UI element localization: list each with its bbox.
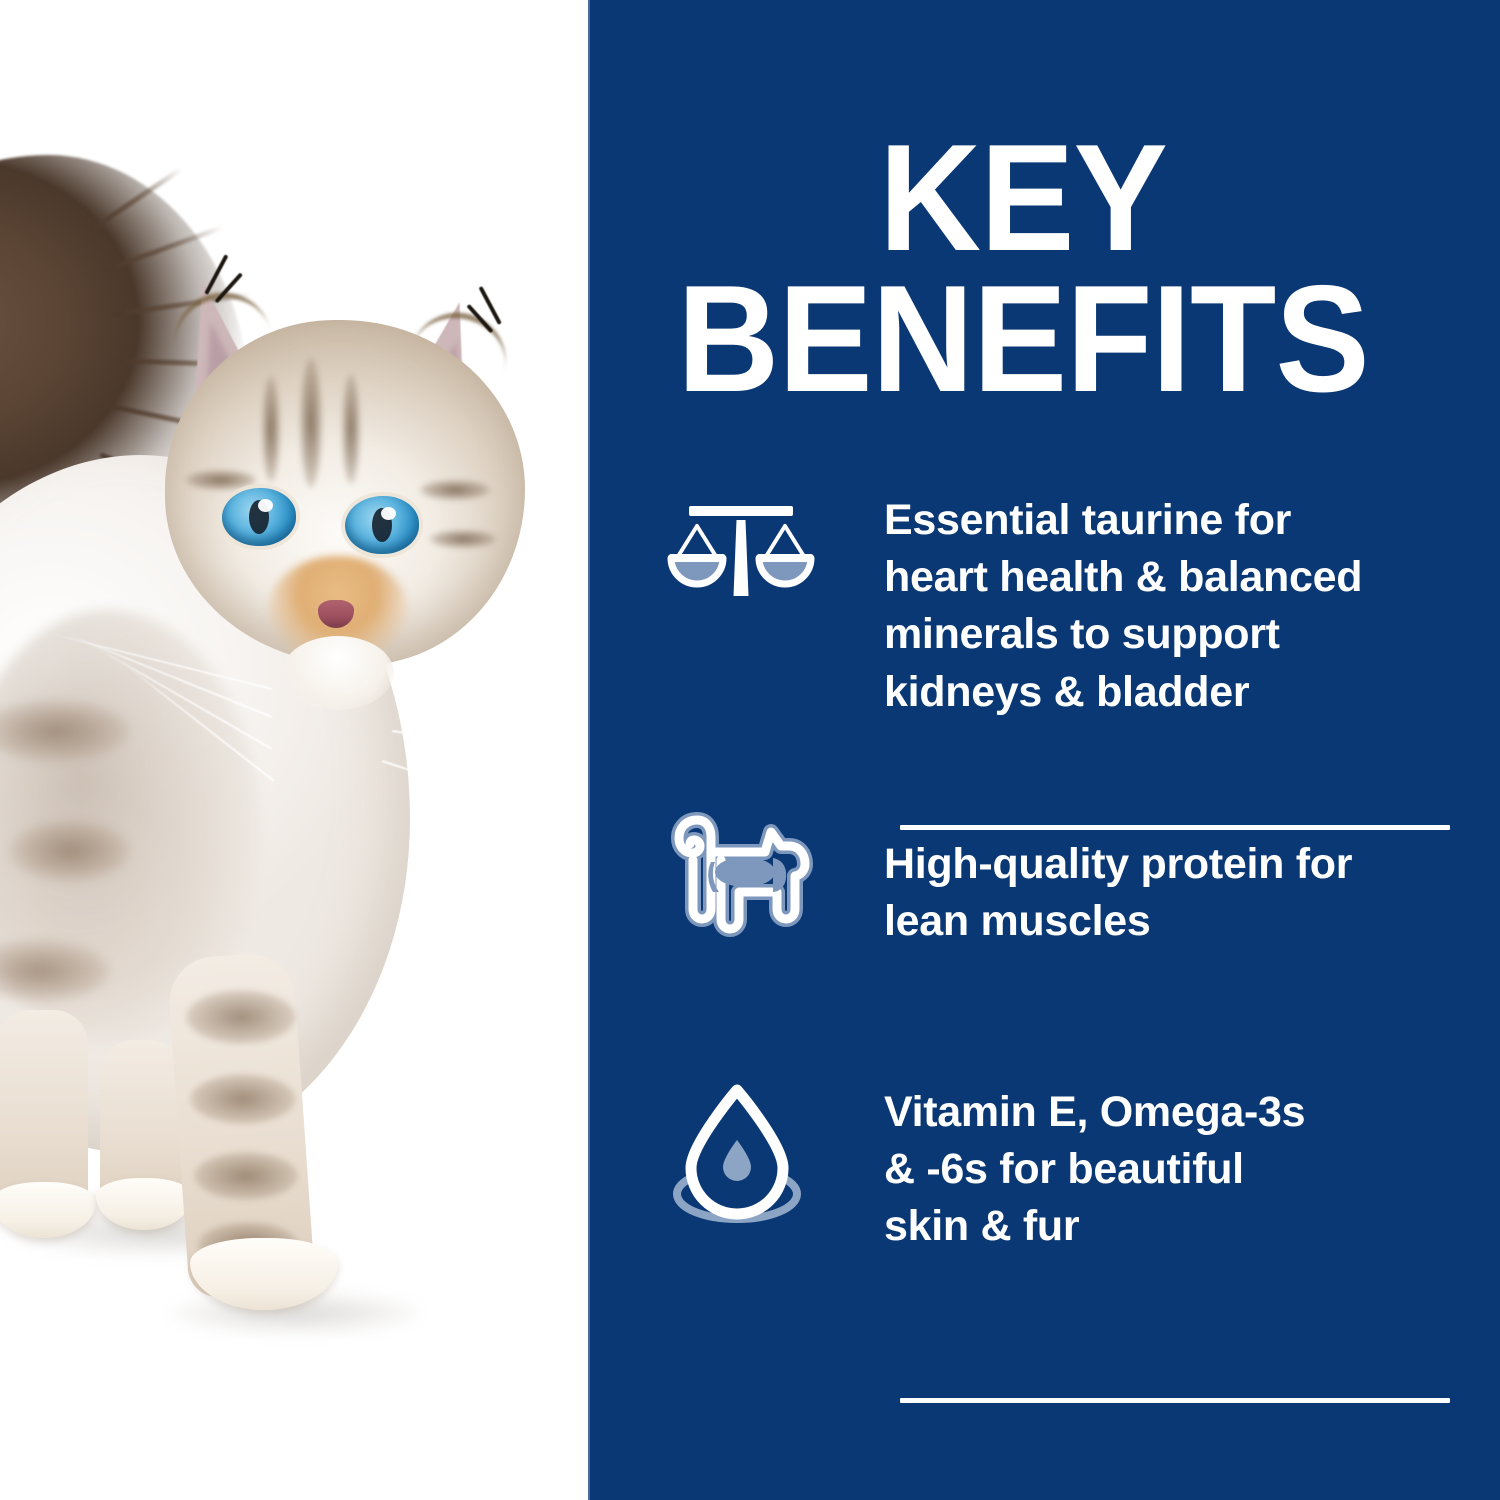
cat-cheek-stripe <box>430 530 496 548</box>
benefit-item: Vitamin E, Omega-3s & -6s for beautiful … <box>588 1064 1500 1304</box>
cat-silhouette-icon <box>666 792 816 950</box>
benefit-text: Essential taurine for heart health & bal… <box>816 492 1500 721</box>
cat-forehead-stripe <box>262 376 280 482</box>
water-droplet-icon <box>666 1064 816 1232</box>
cat-forehead-stripe <box>342 374 360 484</box>
cat-whisker <box>398 695 588 704</box>
cat-leg-stripe <box>186 990 296 1044</box>
benefit-text: Vitamin E, Omega-3s & -6s for beautiful … <box>816 1064 1500 1256</box>
cat-fur-stripe <box>10 820 130 882</box>
cat-eye-highlight <box>258 499 273 512</box>
cat-leg-stripe <box>190 1074 296 1124</box>
cat-forehead-stripe <box>300 358 322 488</box>
cat-photograph <box>0 0 588 1500</box>
cat-eye-right <box>345 496 419 554</box>
cat-cheek-stripe <box>420 480 490 500</box>
cat-cheek-stripe <box>186 470 256 490</box>
balance-scale-icon <box>666 492 816 642</box>
cat-leg-stripe <box>194 1152 298 1200</box>
benefit-item: High-quality protein for lean muscles <box>588 792 1500 1064</box>
key-benefits-panel: KEY BENEFITS <box>588 0 1500 1500</box>
page-title: KEY BENEFITS <box>618 128 1427 411</box>
cat-eye-highlight <box>381 507 396 520</box>
cat-chin <box>282 636 394 710</box>
benefit-divider <box>900 1398 1450 1403</box>
benefits-list: Essential taurine for heart health & bal… <box>588 492 1500 1304</box>
product-feature-image: KEY BENEFITS <box>0 0 1500 1500</box>
benefit-text: High-quality protein for lean muscles <box>816 792 1500 950</box>
cat-eye-left <box>222 488 296 546</box>
cat-photo-pane <box>0 0 588 1500</box>
cat-whisker <box>392 730 576 758</box>
benefit-item: Essential taurine for heart health & bal… <box>588 492 1500 792</box>
